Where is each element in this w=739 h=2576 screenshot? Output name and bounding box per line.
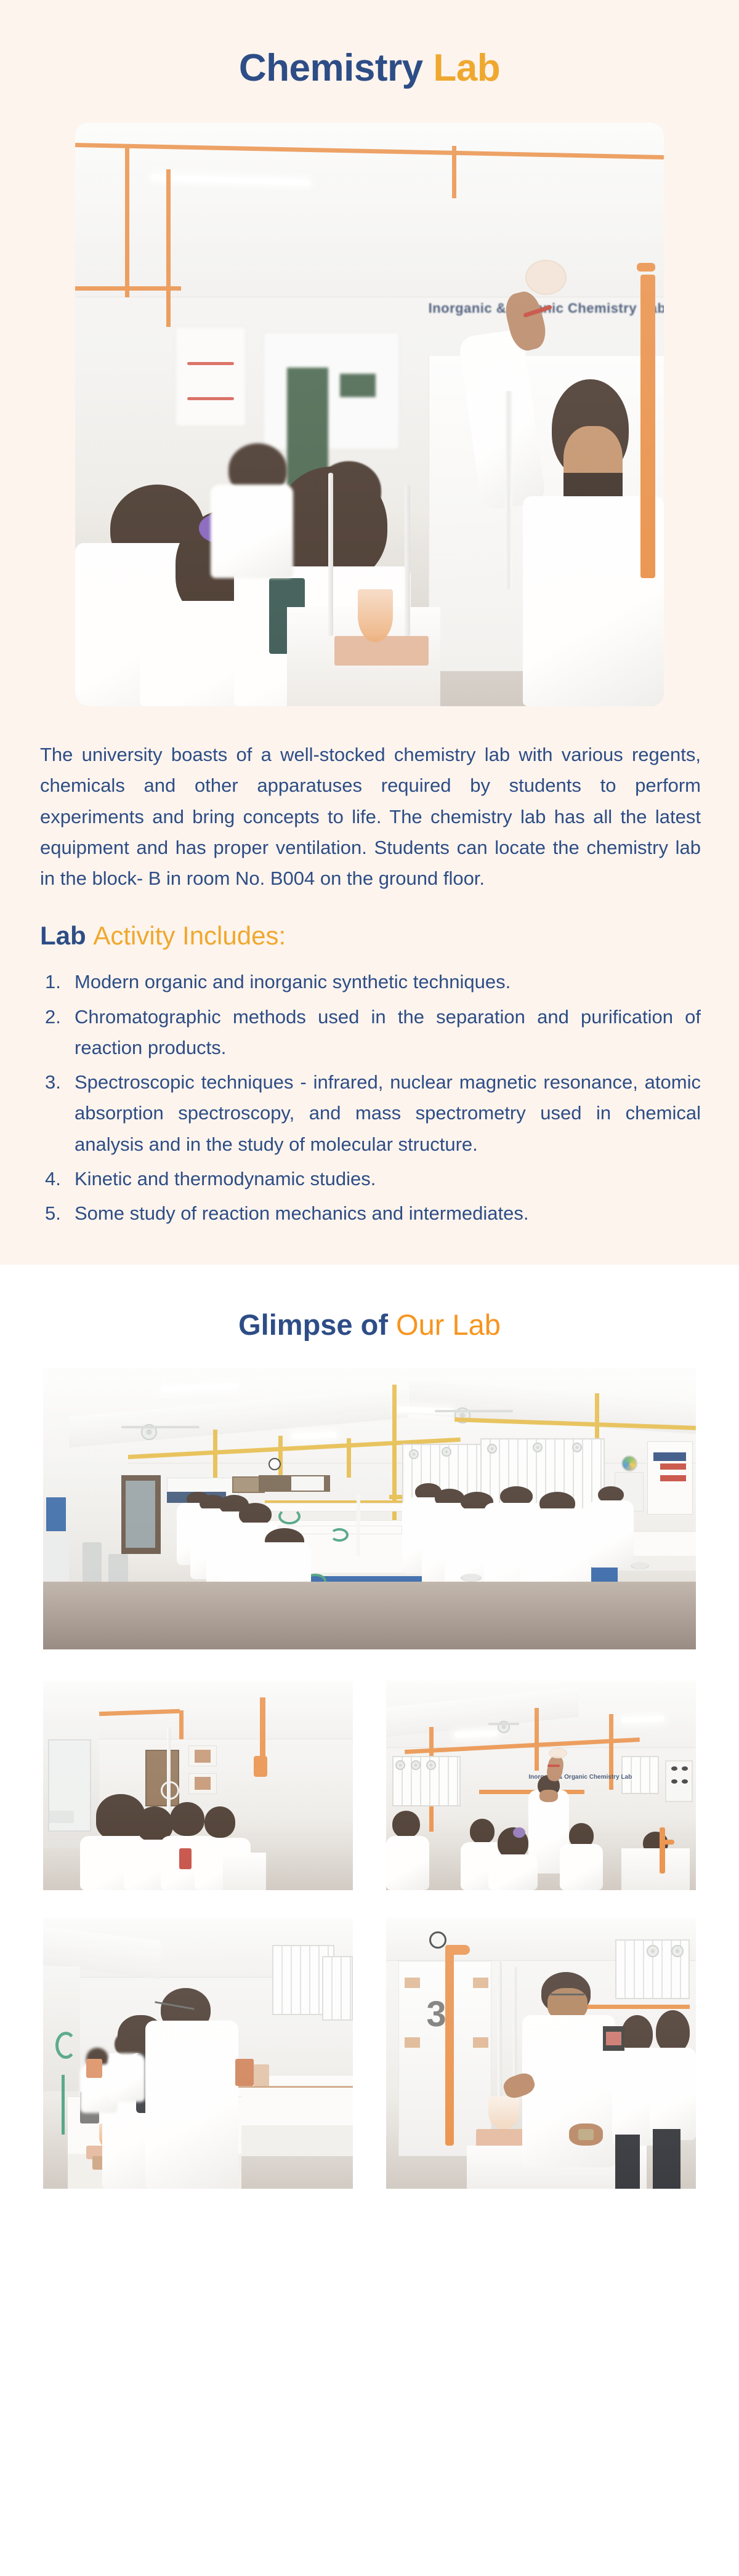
hero-image: Inorganic & Organic Chemistry Lab: [75, 123, 664, 706]
activity-heading-bold: Lab: [40, 921, 86, 950]
activity-heading-light: Activity Includes:: [93, 921, 286, 950]
activity-list: Modern organic and inorganic synthetic t…: [40, 967, 701, 1229]
chemistry-lab-intro-section: Chemistry Lab Inorganic & Organic Chemis…: [0, 0, 739, 1265]
list-item: Some study of reaction mechanics and int…: [40, 1198, 701, 1229]
gallery-heading: Glimpse of Our Lab: [0, 1265, 739, 1368]
activity-heading: Lab Activity Includes:: [0, 921, 739, 951]
list-item: Chromatographic methods used in the sepa…: [40, 1002, 701, 1063]
gallery-heading-bold: Glimpse of: [238, 1308, 388, 1341]
list-item: Kinetic and thermodynamic studies.: [40, 1164, 701, 1194]
hero-image-wrapper: Inorganic & Organic Chemistry Lab: [0, 123, 739, 706]
gallery-tile: [43, 1918, 353, 2189]
gallery-wide-image: [43, 1368, 696, 1649]
intro-paragraph: The university boasts of a well-stocked …: [40, 739, 701, 894]
gallery-heading-light: Our Lab: [396, 1308, 501, 1341]
list-item: Spectroscopic techniques - infrared, nuc…: [40, 1067, 701, 1160]
gallery-tile: 3: [386, 1918, 696, 2189]
list-item: Modern organic and inorganic synthetic t…: [40, 967, 701, 997]
page-title-secondary: Lab: [433, 47, 500, 89]
gallery-wide-wrapper: [0, 1368, 739, 1649]
page-title: Chemistry Lab: [0, 0, 739, 123]
gallery-tile: [43, 1681, 353, 1890]
gallery-tile: Inorganic & Organic Chemistry Lab: [386, 1681, 696, 1890]
gallery-section: Glimpse of Our Lab: [0, 1265, 739, 2189]
gallery-grid: Inorganic & Organic Chemistry Lab: [43, 1681, 696, 2189]
page-title-primary: Chemistry: [239, 47, 423, 89]
